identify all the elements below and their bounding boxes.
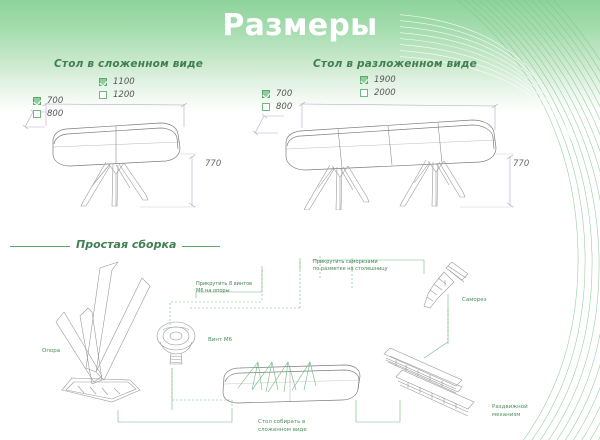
option-label: 700 xyxy=(47,96,63,106)
option-row[interactable]: 1200 xyxy=(99,89,135,100)
callout-screw-tabletop: Прикрутить саморезами по разметке на сто… xyxy=(313,259,411,274)
page-title: Размеры xyxy=(0,8,600,43)
checkbox-unchecked-icon[interactable] xyxy=(262,103,270,111)
checkbox-unchecked-icon[interactable] xyxy=(33,110,41,118)
checkbox-checked-icon[interactable] xyxy=(262,90,270,98)
label-screw-m6: Винт М6 xyxy=(208,337,232,345)
label-sliding-mechanism: Раздвижной механизм xyxy=(492,404,562,420)
option-label: 800 xyxy=(276,102,292,112)
label-support: Опора xyxy=(42,348,60,356)
checkbox-unchecked-icon[interactable] xyxy=(360,89,368,97)
option-label: 800 xyxy=(47,109,63,119)
option-row[interactable]: 700 xyxy=(33,95,63,106)
folded-height-label: 770 xyxy=(205,159,221,169)
section-heading-folded: Стол в сложенном виде xyxy=(54,58,203,70)
checkbox-checked-icon[interactable] xyxy=(360,76,368,84)
header-rule-right xyxy=(182,246,220,247)
folded-depth-options: 700 800 xyxy=(33,95,63,121)
option-row[interactable]: 800 xyxy=(262,101,292,112)
option-row[interactable]: 1100 xyxy=(99,76,135,87)
unfolded-depth-options: 700 800 xyxy=(262,88,292,114)
header-rule-left xyxy=(10,246,70,247)
option-row[interactable]: 2000 xyxy=(360,87,396,98)
option-label: 1900 xyxy=(374,75,396,85)
note-assemble-folded: Стол собирать в сложенном виде xyxy=(258,419,338,435)
option-label: 700 xyxy=(276,89,292,99)
option-label: 1100 xyxy=(113,77,135,87)
option-label: 1200 xyxy=(113,90,135,100)
unfolded-width-options: 1900 2000 xyxy=(360,74,396,100)
unfolded-height-label: 770 xyxy=(513,159,529,169)
section-heading-unfolded: Стол в разложенном виде xyxy=(313,58,477,70)
checkbox-checked-icon[interactable] xyxy=(33,97,41,105)
folded-width-options: 1100 1200 xyxy=(99,76,135,102)
option-row[interactable]: 700 xyxy=(262,88,292,99)
option-row[interactable]: 800 xyxy=(33,108,63,119)
folded-table-drawing xyxy=(20,70,280,210)
checkbox-unchecked-icon[interactable] xyxy=(99,91,107,99)
option-label: 2000 xyxy=(374,88,396,98)
option-row[interactable]: 1900 xyxy=(360,74,396,85)
label-self-tapping-screw: Саморез xyxy=(462,297,487,305)
callout-screw-supports: Прикрутить 8 винтов М6 на опоры xyxy=(196,281,282,296)
checkbox-checked-icon[interactable] xyxy=(99,78,107,86)
infographic-page: Размеры Стол в сложенном виде Стол в раз… xyxy=(0,0,600,440)
